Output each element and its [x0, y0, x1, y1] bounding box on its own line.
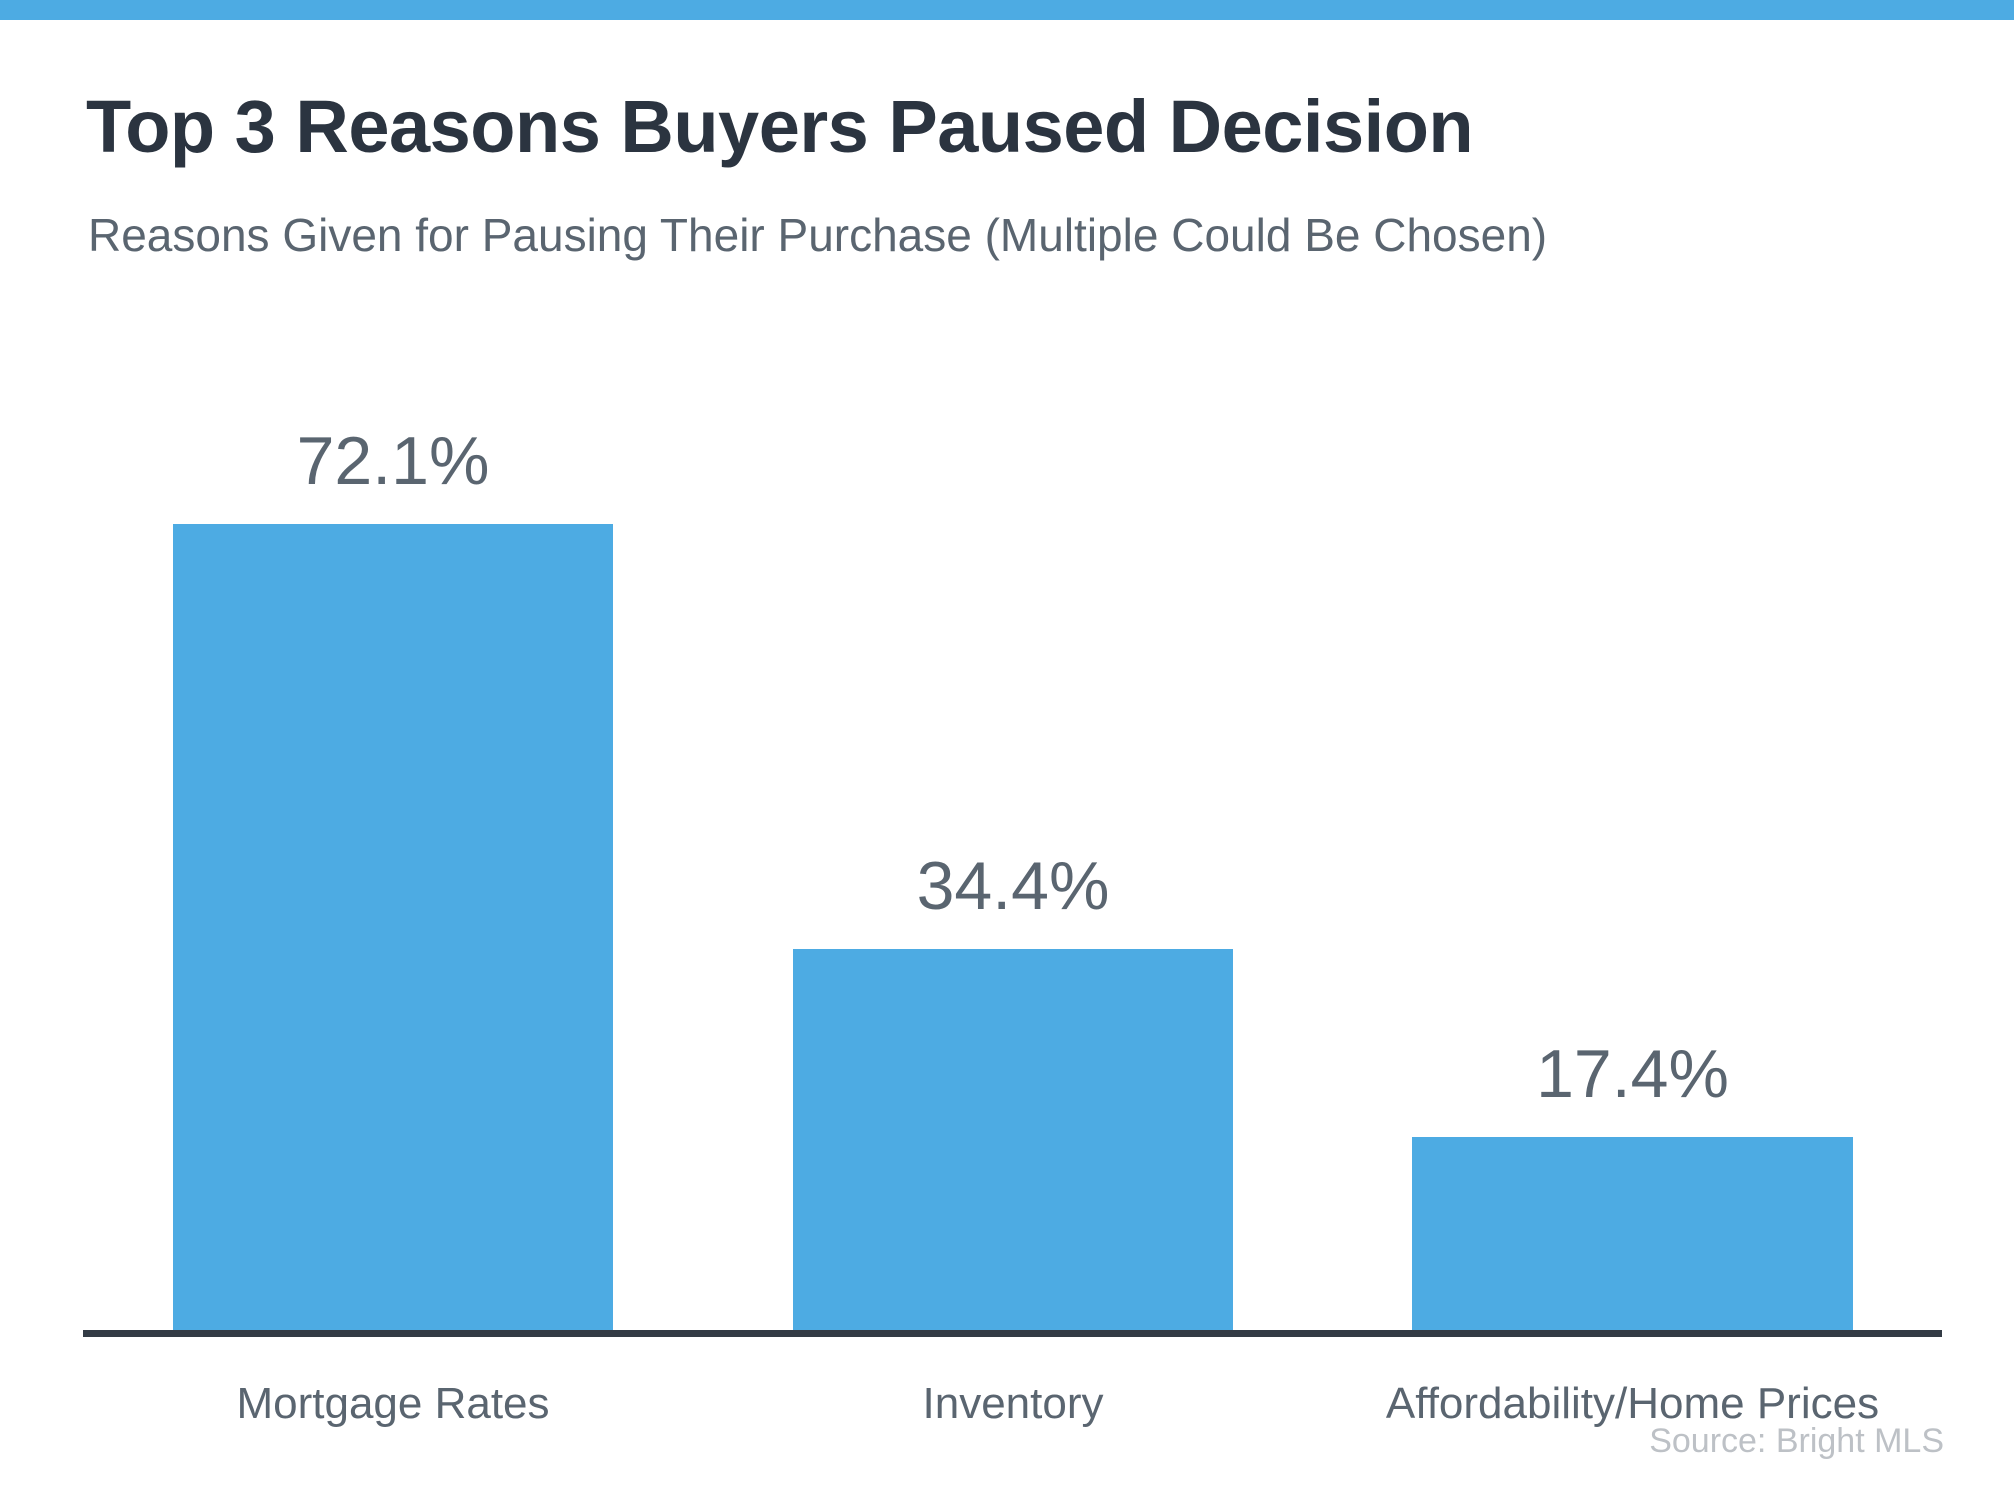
bar-0: [173, 524, 613, 1333]
bar-1: [793, 949, 1233, 1333]
bar-chart-plot-area: 72.1% 34.4% 17.4% Mortgage Rates Invento…: [0, 0, 2014, 1502]
bar-value-label-2: 17.4%: [1412, 1040, 1853, 1108]
x-axis-tick-label-0: Mortgage Rates: [133, 1382, 653, 1426]
x-axis-line: [83, 1330, 1942, 1337]
source-attribution: Source: Bright MLS: [1649, 1424, 1944, 1458]
bar-2: [1412, 1137, 1853, 1333]
bar-value-label-1: 34.4%: [793, 852, 1233, 920]
x-axis-tick-label-1: Inventory: [753, 1382, 1273, 1426]
x-axis-tick-label-2: Affordability/Home Prices: [1342, 1382, 1923, 1426]
bar-value-label-0: 72.1%: [173, 427, 613, 495]
infographic-canvas: Top 3 Reasons Buyers Paused Decision Rea…: [0, 0, 2014, 1502]
